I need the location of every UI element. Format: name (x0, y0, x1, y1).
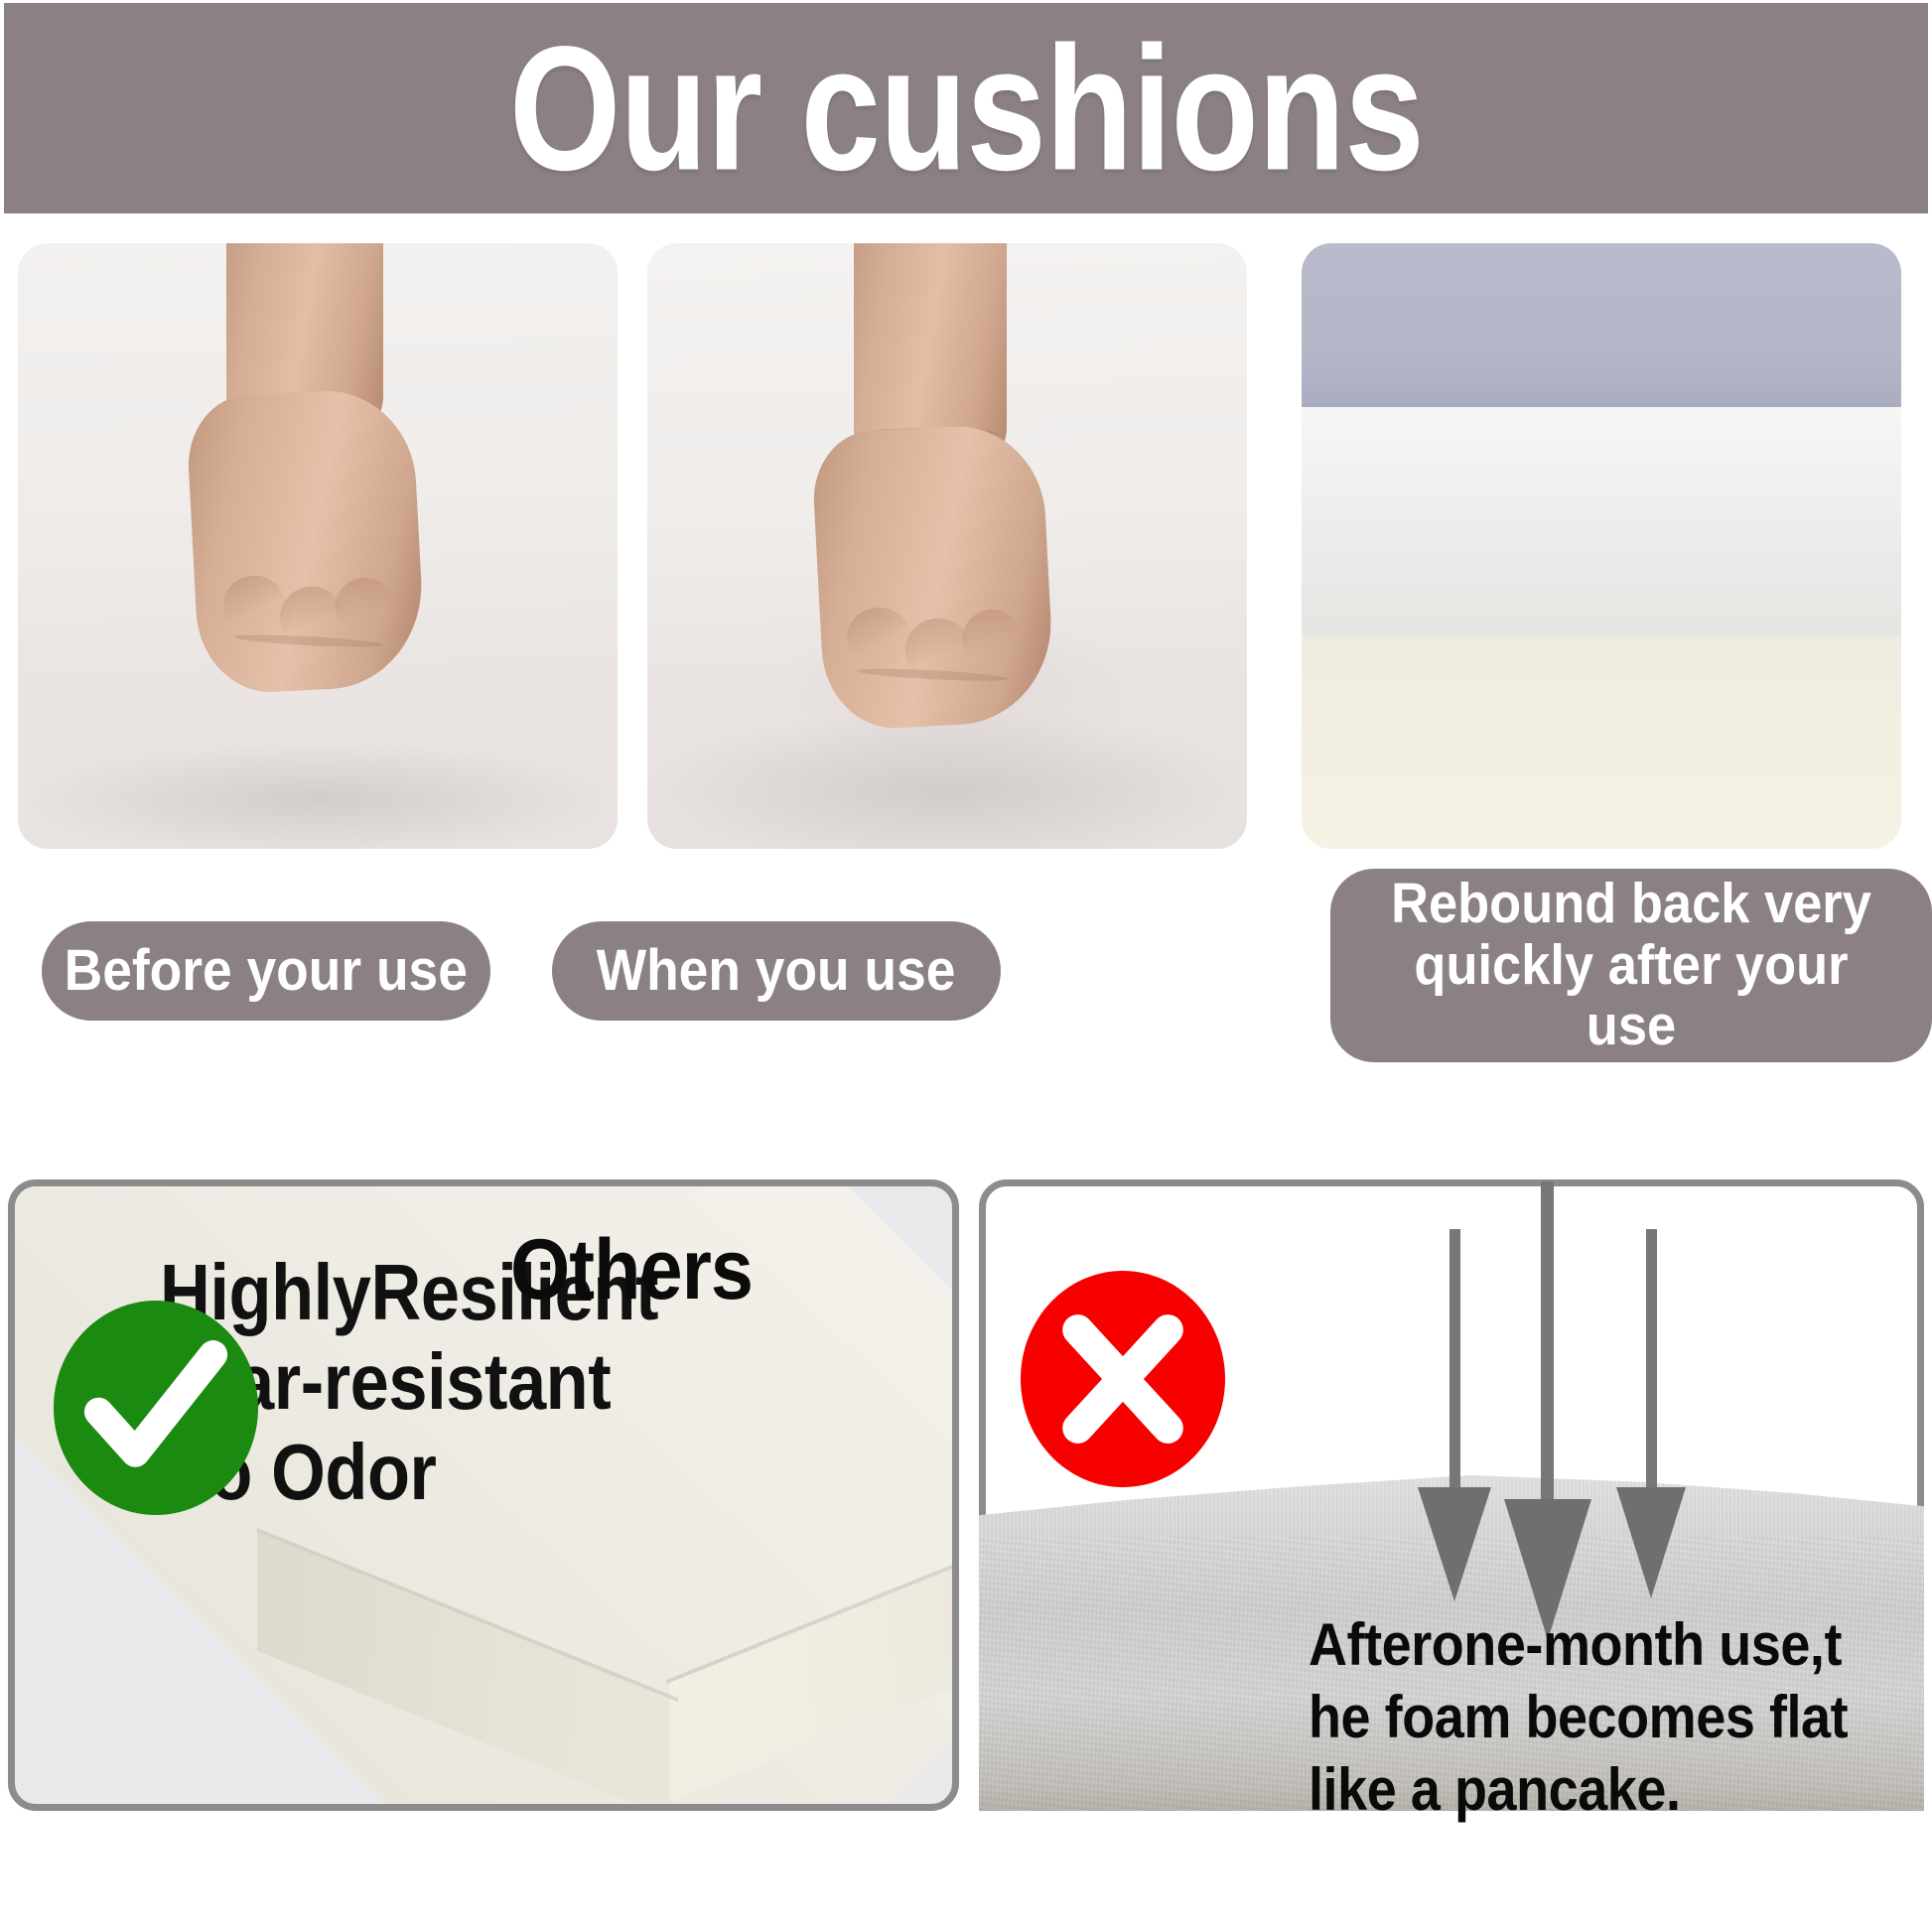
caption-when-you-use: When you use (552, 921, 1001, 1021)
others-description: Afterone-month use,t he foam becomes fla… (1309, 1608, 1848, 1827)
foam-core-layer (1302, 635, 1901, 849)
hand-shape (810, 422, 1055, 732)
caption-rebound: Rebound back very quickly after your use (1330, 869, 1932, 1062)
demo-photo-before (18, 243, 618, 849)
cross-icon (1021, 1271, 1225, 1487)
others-title: Others (510, 1221, 753, 1319)
hand-shape (185, 386, 426, 696)
page-title: Our cushions (509, 20, 1424, 197)
infographic-root: Our cushions (0, 0, 1932, 1932)
foam-middle-layer (1302, 407, 1901, 635)
foam-contact-shadow (647, 710, 1247, 849)
caption-label: Rebound back very quickly after your use (1369, 874, 1893, 1057)
caption-before-use: Before your use (42, 921, 490, 1021)
demo-photo-after (1302, 243, 1901, 849)
cross-badge (1021, 1271, 1225, 1487)
check-badge (54, 1301, 258, 1515)
check-icon (54, 1301, 258, 1515)
caption-label: Before your use (65, 940, 468, 1003)
caption-label: When you use (597, 940, 956, 1003)
demo-photo-during (647, 243, 1247, 849)
foam-upper-layer (1302, 243, 1901, 407)
foam-contact-shadow (18, 740, 618, 849)
header-banner: Our cushions (4, 3, 1928, 213)
